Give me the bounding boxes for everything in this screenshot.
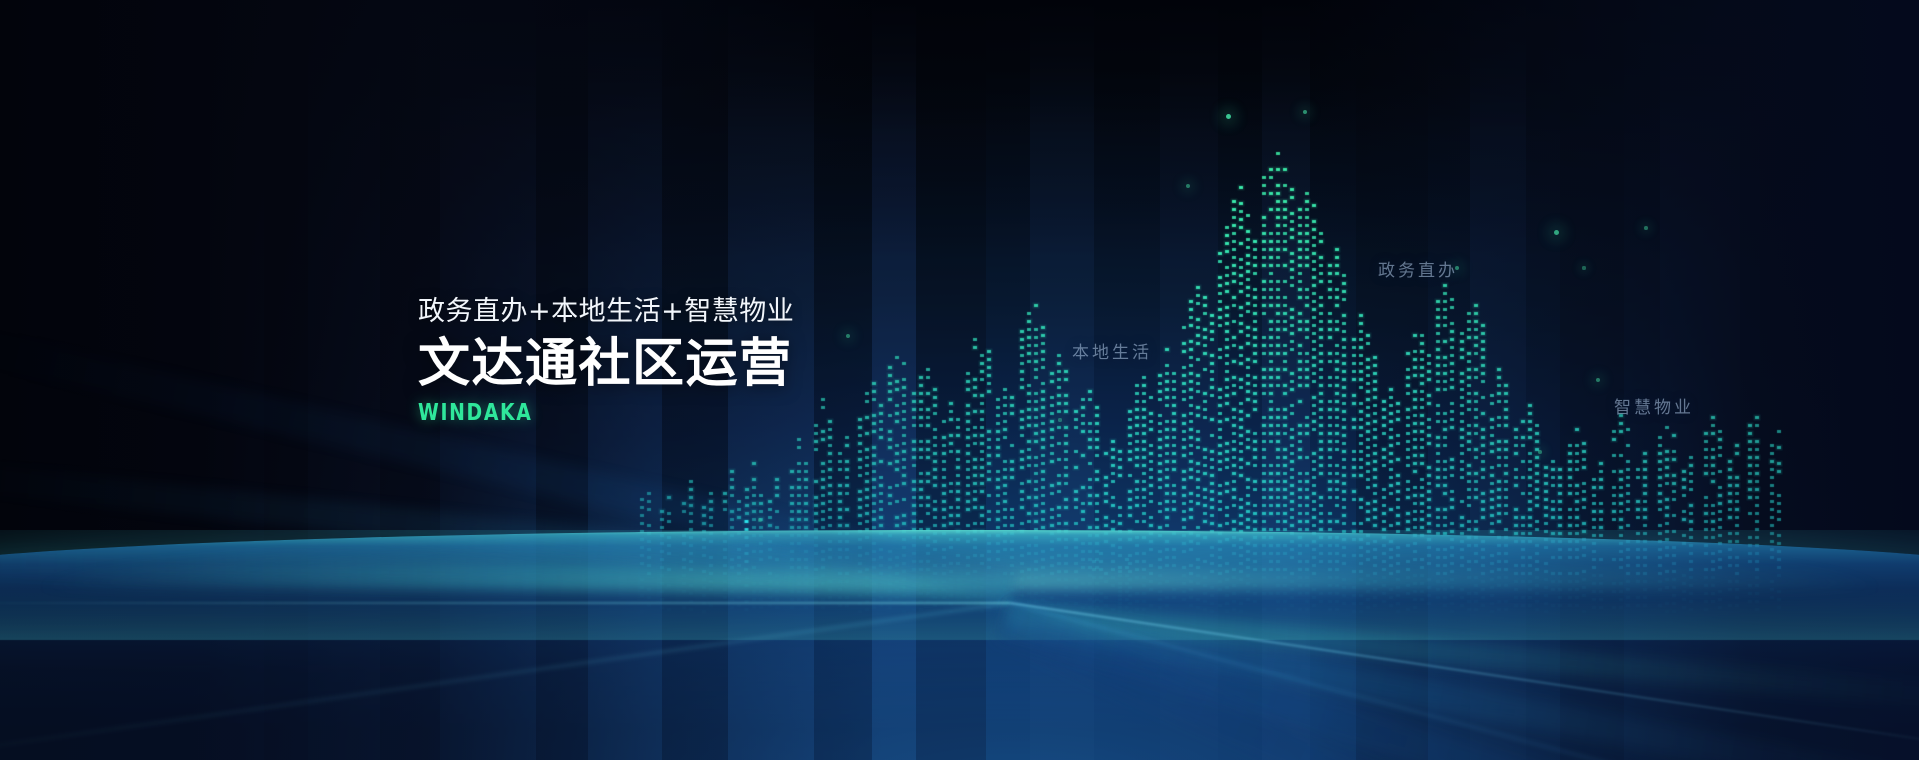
brand-wordmark: WINDAKA [418, 400, 727, 426]
road-band [1008, 602, 1919, 713]
road-band [1005, 602, 1919, 760]
road-band [994, 602, 1919, 760]
road-band [0, 455, 1013, 602]
road-light-beam [0, 602, 1010, 760]
hero-banner: 政务直办本地生活智慧物业 政务直办+本地生活+智慧物业 文达通社区运营 WIND… [0, 0, 1919, 760]
banner-title: 文达通社区运营 [418, 337, 794, 392]
headline-block: 政务直办+本地生活+智慧物业 文达通社区运营 WINDAKA [418, 296, 794, 426]
road-band [0, 547, 1011, 602]
road-light-beam [1010, 602, 1919, 760]
road-light-beam [0, 602, 1010, 604]
banner-subtitle: 政务直办+本地生活+智慧物业 [418, 296, 794, 327]
perspective-road-lines [0, 0, 1919, 760]
road-light-beam [1010, 602, 1919, 759]
road-band [999, 602, 1919, 760]
